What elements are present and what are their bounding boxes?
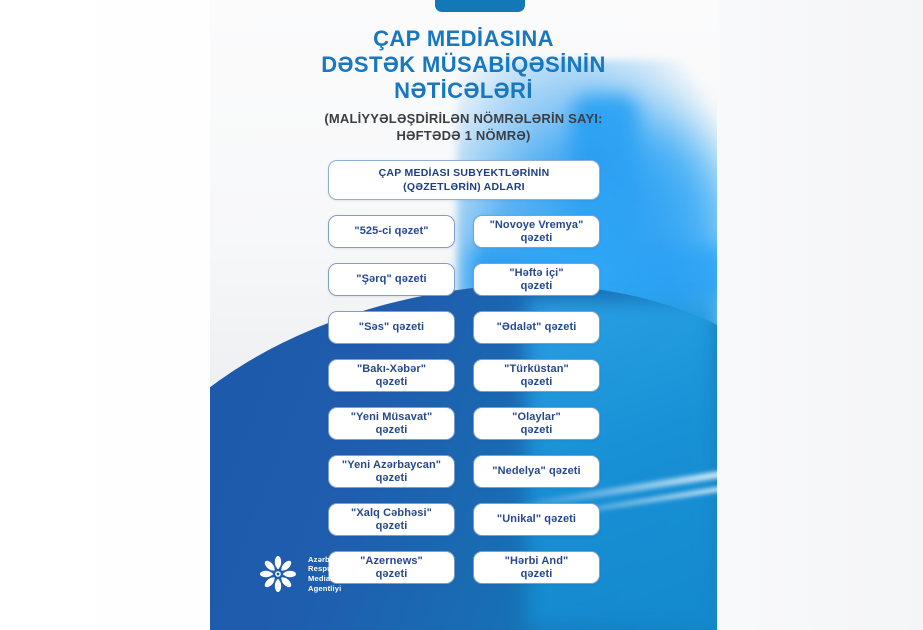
list-item[interactable]: "Bakı-Xəbər" qəzeti xyxy=(328,359,455,392)
list-columns: "525-ci qəzet" "Şərq" qəzeti "Səs" qəzet… xyxy=(328,215,600,584)
top-tab[interactable] xyxy=(435,0,525,12)
list-item[interactable]: "Həftə içi" qəzeti xyxy=(473,263,600,296)
list-item[interactable]: "Yeni Azərbaycan" qəzeti xyxy=(328,455,455,488)
footer-logo: Azərbaycan Respublikasının Medianın İnki… xyxy=(258,554,372,594)
list-item[interactable]: "Unikal" qəzeti xyxy=(473,503,600,536)
list-item[interactable]: "Xalq Cəbhəsi" qəzeti xyxy=(328,503,455,536)
list-item[interactable]: "Ədalət" qəzeti xyxy=(473,311,600,344)
poster: ÇAP MEDİASINA DƏSTƏK MÜSABİQƏSİNİN NƏTİC… xyxy=(210,0,717,630)
list-item[interactable]: "Novoye Vremya" qəzeti xyxy=(473,215,600,248)
right-column: "Novoye Vremya" qəzeti "Həftə içi" qəzet… xyxy=(473,215,600,584)
list-item[interactable]: "Olaylar" qəzeti xyxy=(473,407,600,440)
page-title: ÇAP MEDİASINA DƏSTƏK MÜSABİQƏSİNİN NƏTİC… xyxy=(210,26,717,104)
newspaper-list: ÇAP MEDİASI SUBYEKTLƏRİNİN (QƏZETLƏRİN) … xyxy=(328,160,600,584)
list-item[interactable]: "Nedelya" qəzeti xyxy=(473,455,600,488)
organization-name: Azərbaycan Respublikasının Medianın İnki… xyxy=(308,555,372,593)
list-item[interactable]: "Türküstan" qəzeti xyxy=(473,359,600,392)
list-item[interactable]: "Səs" qəzeti xyxy=(328,311,455,344)
list-item[interactable]: "Yeni Müsavat" qəzeti xyxy=(328,407,455,440)
list-item[interactable]: "Şərq" qəzeti xyxy=(328,263,455,296)
list-item[interactable]: "Hərbi And" qəzeti xyxy=(473,551,600,584)
left-column: "525-ci qəzet" "Şərq" qəzeti "Səs" qəzet… xyxy=(328,215,455,584)
screenshot-canvas: ÇAP MEDİASINA DƏSTƏK MÜSABİQƏSİNİN NƏTİC… xyxy=(0,0,923,630)
list-item[interactable]: "525-ci qəzet" xyxy=(328,215,455,248)
table-header: ÇAP MEDİASI SUBYEKTLƏRİNİN (QƏZETLƏRİN) … xyxy=(328,160,600,200)
page-subtitle: (MALİYYƏLƏŞDİRİLƏN NÖMRƏLƏRİN SAYI: HƏFT… xyxy=(210,110,717,144)
media-agency-rosette-icon xyxy=(258,554,298,594)
